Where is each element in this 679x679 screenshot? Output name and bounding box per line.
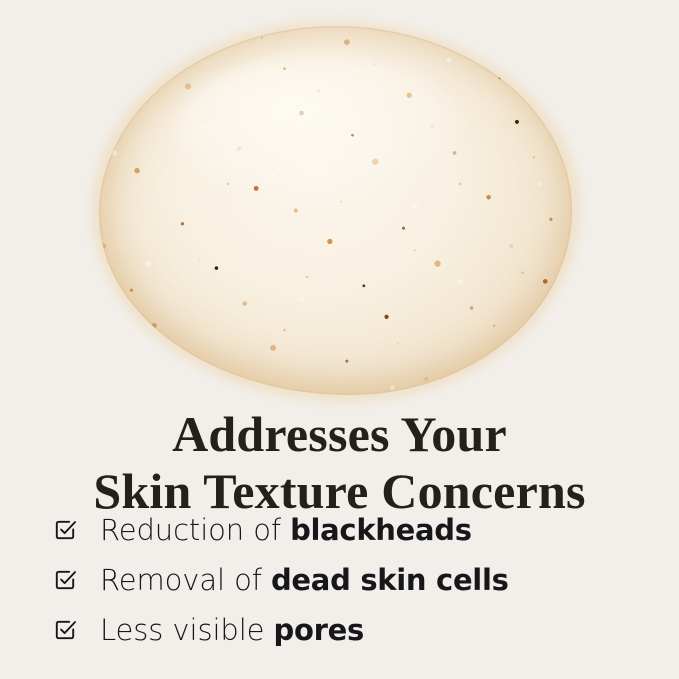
list-item: Removal of dead skin cells	[52, 555, 652, 605]
scrub-gel-blob	[99, 26, 572, 395]
page-title: Addresses Your Skin Texture Concerns	[0, 406, 679, 520]
benefits-list: Reduction of blackheads Removal of dead …	[52, 505, 652, 655]
benefit-emphasis: dead skin cells	[271, 563, 509, 597]
product-benefit-poster: Addresses Your Skin Texture Concerns Red…	[0, 0, 679, 679]
benefit-text: Reduction of blackheads	[100, 513, 472, 547]
headline-line-1: Addresses Your	[0, 406, 679, 463]
benefit-text: Removal of dead skin cells	[100, 563, 509, 597]
product-swatch-image	[0, 0, 679, 430]
benefit-text: Less visible pores	[100, 613, 364, 647]
list-item: Less visible pores	[52, 605, 652, 655]
checkbox-check-icon	[52, 567, 78, 593]
benefit-emphasis: blackheads	[290, 513, 472, 547]
benefit-emphasis: pores	[274, 613, 364, 647]
benefit-prefix: Reduction of	[100, 513, 290, 547]
swatch-rim	[99, 26, 572, 395]
list-item: Reduction of blackheads	[52, 505, 652, 555]
checkbox-check-icon	[52, 617, 78, 643]
benefit-prefix: Removal of	[100, 563, 271, 597]
checkbox-check-icon	[52, 517, 78, 543]
benefit-prefix: Less visible	[100, 613, 274, 647]
